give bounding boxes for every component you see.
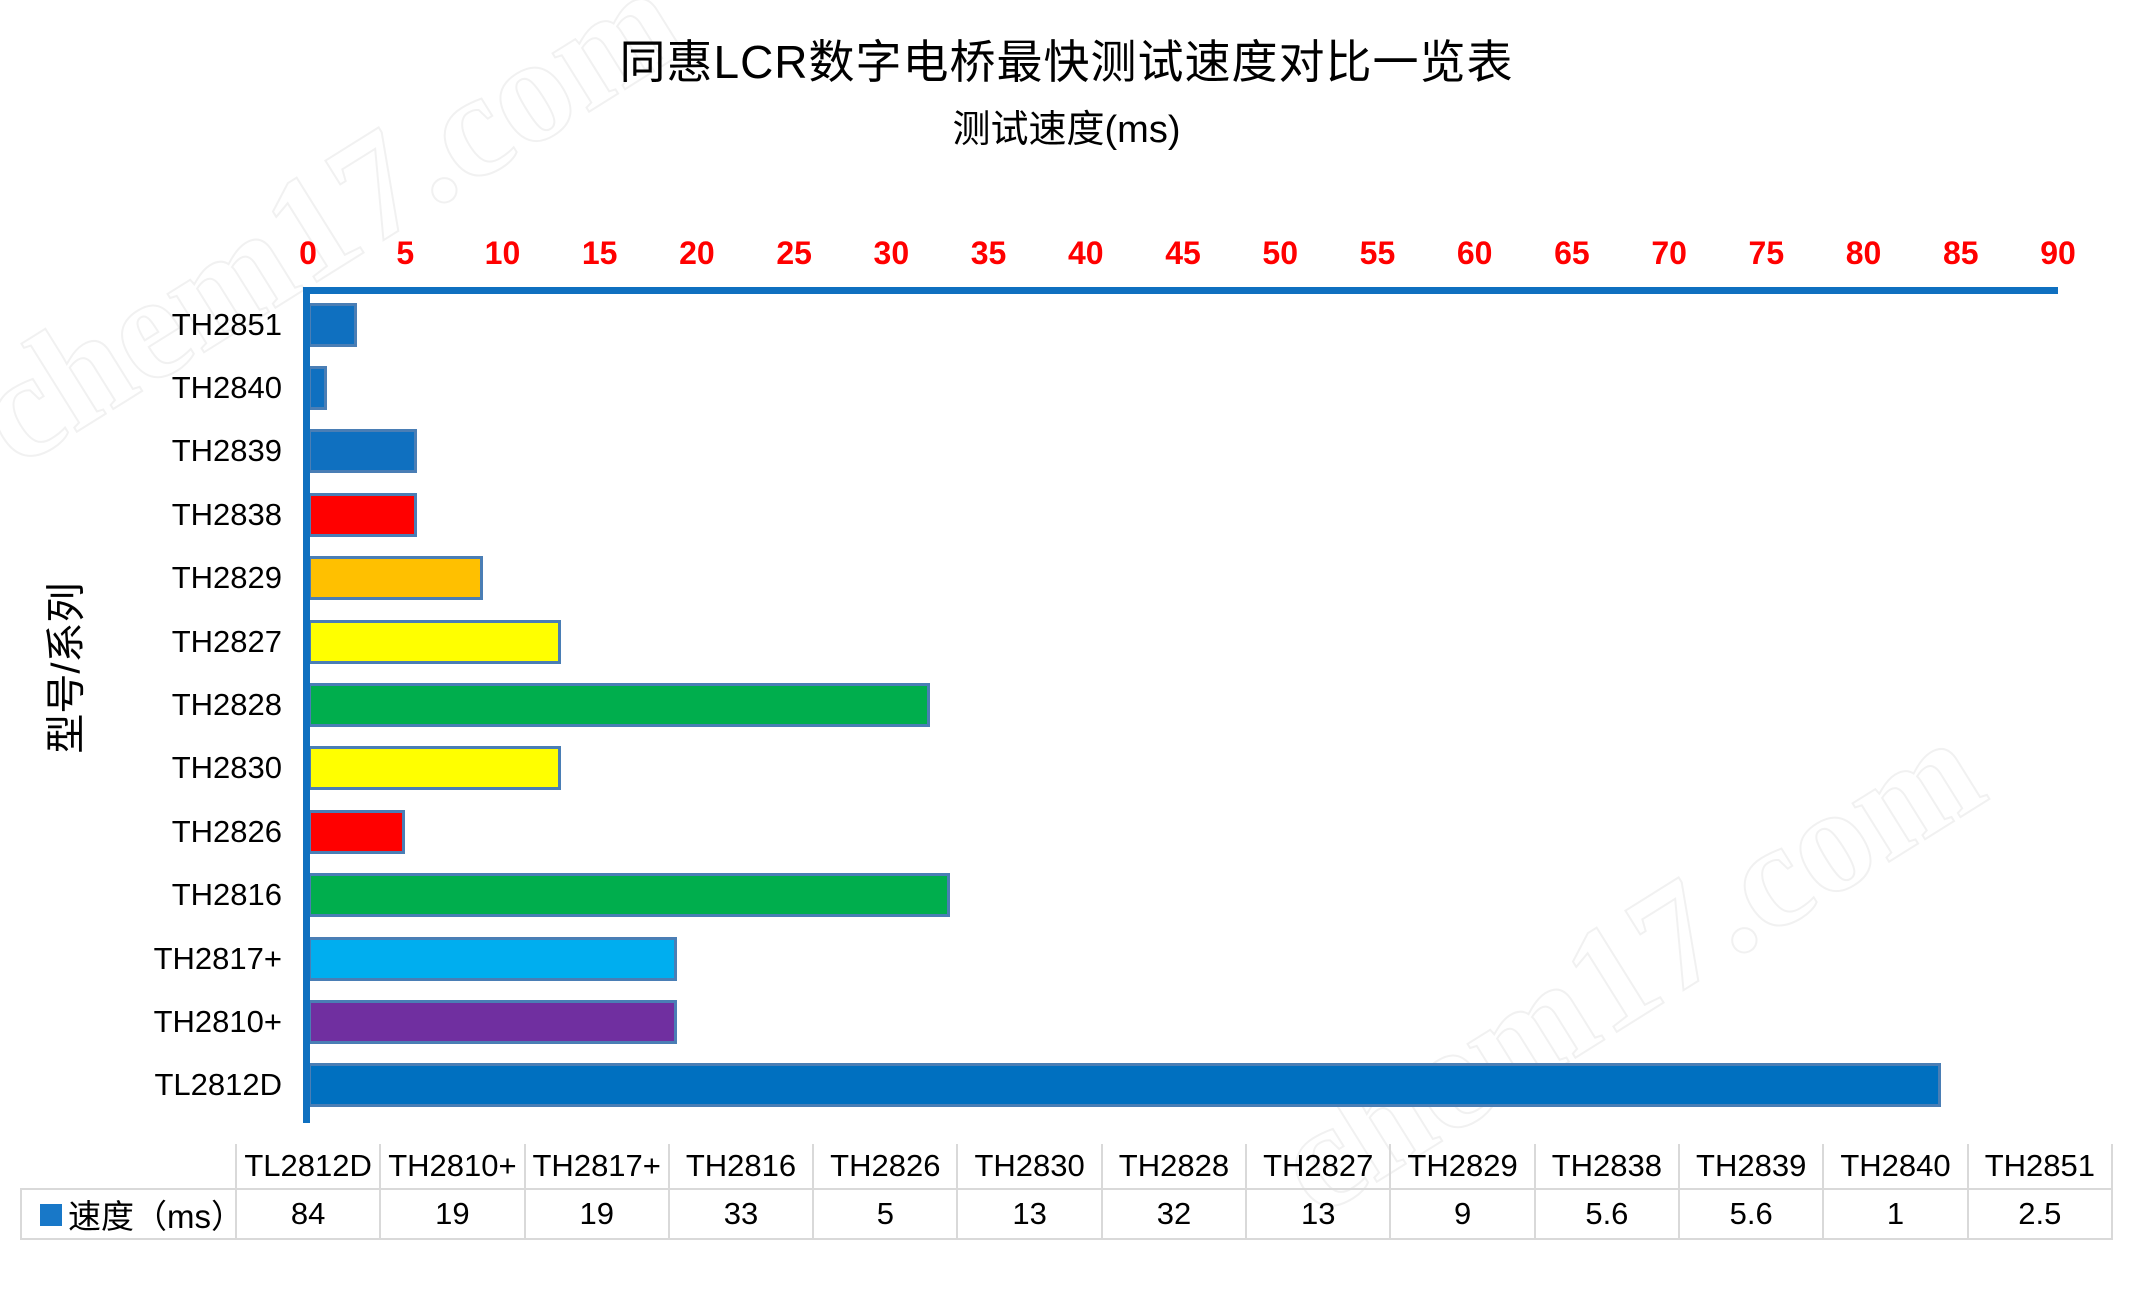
bar <box>308 1063 1941 1107</box>
x-tick-label: 50 <box>1262 235 1298 272</box>
table-cell: 13 <box>957 1189 1101 1239</box>
y-axis-label: TH2817+ <box>154 941 282 977</box>
y-axis-label: TH2830 <box>172 750 282 786</box>
x-tick-label: 75 <box>1749 235 1785 272</box>
bar <box>308 620 561 664</box>
y-axis-label: TH2828 <box>172 687 282 723</box>
table-column-header: TH2839 <box>1679 1144 1823 1189</box>
y-axis-label: TH2838 <box>172 497 282 533</box>
y-axis-label: TL2812D <box>154 1067 282 1103</box>
table-cell: 13 <box>1246 1189 1390 1239</box>
table-column-header: TH2851 <box>1968 1144 2112 1189</box>
table-column-header: TH2829 <box>1390 1144 1534 1189</box>
table-cell: 84 <box>236 1189 380 1239</box>
x-tick-label: 30 <box>874 235 910 272</box>
y-axis-label: TH2829 <box>172 560 282 596</box>
table-cell: 1 <box>1823 1189 1967 1239</box>
x-tick-label: 25 <box>776 235 812 272</box>
table-column-header: TH2840 <box>1823 1144 1967 1189</box>
table-row: 速度（ms）84191933513321395.65.612.5 <box>21 1189 2112 1239</box>
x-tick-label: 40 <box>1068 235 1104 272</box>
legend-swatch-icon <box>40 1204 62 1226</box>
chart-title: 同惠LCR数字电桥最快测试速度对比一览表 <box>0 26 2133 92</box>
table-cell: 5.6 <box>1679 1189 1823 1239</box>
bar <box>308 683 930 727</box>
table-cell: 2.5 <box>1968 1189 2112 1239</box>
table-corner-cell <box>21 1144 236 1189</box>
chart-subtitle: 测试速度(ms) <box>0 98 2133 153</box>
table-column-header: TH2816 <box>669 1144 813 1189</box>
bar <box>308 873 950 917</box>
x-tick-label: 55 <box>1360 235 1396 272</box>
x-tick-label: 70 <box>1651 235 1687 272</box>
table-cell: 5 <box>813 1189 957 1239</box>
table-row-label: 速度（ms） <box>21 1189 236 1239</box>
legend-label: 速度（ms） <box>68 1198 244 1235</box>
x-tick-label: 80 <box>1846 235 1882 272</box>
bar <box>308 493 417 537</box>
x-tick-label: 20 <box>679 235 715 272</box>
y-axis-label: TH2839 <box>172 433 282 469</box>
table-column-header: TH2817+ <box>525 1144 669 1189</box>
table-header-row: TL2812DTH2810+TH2817+TH2816TH2826TH2830T… <box>21 1144 2112 1189</box>
bar <box>308 429 417 473</box>
x-tick-label: 90 <box>2040 235 2076 272</box>
table-cell: 19 <box>525 1189 669 1239</box>
table-cell: 9 <box>1390 1189 1534 1239</box>
table-column-header: TH2826 <box>813 1144 957 1189</box>
y-axis-label: TH2826 <box>172 814 282 850</box>
bar <box>308 366 327 410</box>
x-tick-label: 65 <box>1554 235 1590 272</box>
x-tick-label: 45 <box>1165 235 1201 272</box>
y-axis-label: TH2840 <box>172 370 282 406</box>
table-cell: 32 <box>1102 1189 1246 1239</box>
y-axis-label: TH2851 <box>172 307 282 343</box>
table-column-header: TL2812D <box>236 1144 380 1189</box>
table-cell: 5.6 <box>1535 1189 1679 1239</box>
x-tick-label: 60 <box>1457 235 1493 272</box>
table-column-header: TH2838 <box>1535 1144 1679 1189</box>
x-tick-label: 85 <box>1943 235 1979 272</box>
y-axis-label: TH2827 <box>172 624 282 660</box>
table-column-header: TH2810+ <box>380 1144 524 1189</box>
x-axis-line <box>303 287 2058 294</box>
bar <box>308 810 405 854</box>
table-cell: 33 <box>669 1189 813 1239</box>
table-column-header: TH2827 <box>1246 1144 1390 1189</box>
x-tick-label: 15 <box>582 235 618 272</box>
table-cell: 19 <box>380 1189 524 1239</box>
y-axis-title-wrap: 型号/系列 <box>28 408 98 928</box>
x-axis-ticks: 051015202530354045505560657075808590 <box>0 235 2133 275</box>
x-tick-label: 10 <box>485 235 521 272</box>
bar <box>308 746 561 790</box>
x-tick-label: 35 <box>971 235 1007 272</box>
plot-area <box>308 293 2058 1117</box>
y-axis-label: TH2810+ <box>154 1004 282 1040</box>
chart-container: chem17.com chem17.com 同惠LCR数字电桥最快测试速度对比一… <box>0 0 2133 1289</box>
bar <box>308 937 677 981</box>
bar <box>308 1000 677 1044</box>
x-tick-label: 0 <box>299 235 317 272</box>
bar <box>308 303 357 347</box>
x-tick-label: 5 <box>396 235 414 272</box>
data-table: TL2812DTH2810+TH2817+TH2816TH2826TH2830T… <box>20 1144 2113 1240</box>
bar <box>308 556 483 600</box>
table-column-header: TH2828 <box>1102 1144 1246 1189</box>
y-axis-label: TH2816 <box>172 877 282 913</box>
table-column-header: TH2830 <box>957 1144 1101 1189</box>
y-axis-title: 型号/系列 <box>34 582 92 753</box>
y-axis-line <box>303 290 310 1123</box>
